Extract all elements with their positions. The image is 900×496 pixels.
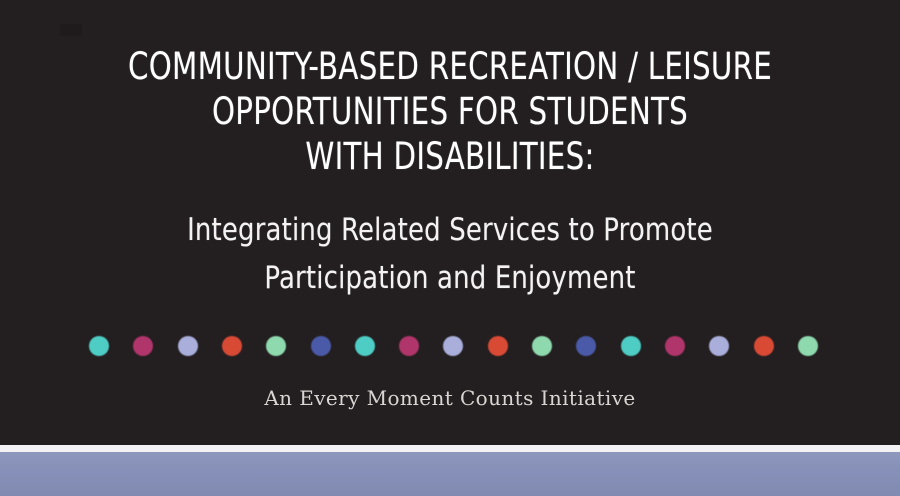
divider-dot-teal: [355, 336, 375, 356]
divider-dot-red-orange: [222, 336, 242, 356]
page-title: COMMUNITY-BASED RECREATION / LEISURE OPP…: [0, 44, 900, 179]
title-line-3: WITH DISABILITIES:: [54, 134, 846, 179]
presentation-title-slide: COMMUNITY-BASED RECREATION / LEISURE OPP…: [0, 0, 900, 496]
initiative-credit: An Every Moment Counts Initiative: [0, 385, 900, 411]
divider-dot-periwinkle: [178, 336, 198, 356]
divider-dot-periwinkle: [443, 336, 463, 356]
divider-dot-crimson: [399, 336, 419, 356]
divider-dot-red-orange: [488, 336, 508, 356]
divider-dot-red-orange: [754, 336, 774, 356]
subtitle-line-1: Integrating Related Services to Promote: [32, 206, 869, 254]
divider-dot-mint-green: [798, 336, 818, 356]
footer-band-sheen: [0, 452, 900, 496]
compression-artifact: [60, 24, 82, 36]
page-subtitle: Integrating Related Services to Promote …: [0, 206, 900, 302]
divider-dot-periwinkle: [709, 336, 729, 356]
title-line-2: OPPORTUNITIES FOR STUDENTS: [54, 89, 846, 134]
subtitle-line-2: Participation and Enjoyment: [32, 254, 869, 302]
title-line-1: COMMUNITY-BASED RECREATION / LEISURE: [54, 44, 846, 89]
divider-dot-indigo-blue: [311, 336, 331, 356]
divider-dot-crimson: [665, 336, 685, 356]
divider-dot-crimson: [133, 336, 153, 356]
divider-dot-teal: [89, 336, 109, 356]
footer-accent-band: [0, 452, 900, 496]
dot-divider: [0, 336, 900, 358]
divider-dot-indigo-blue: [576, 336, 596, 356]
footer-white-strip: [0, 445, 900, 452]
divider-dot-teal: [621, 336, 641, 356]
divider-dot-mint-green: [532, 336, 552, 356]
divider-dot-mint-green: [266, 336, 286, 356]
